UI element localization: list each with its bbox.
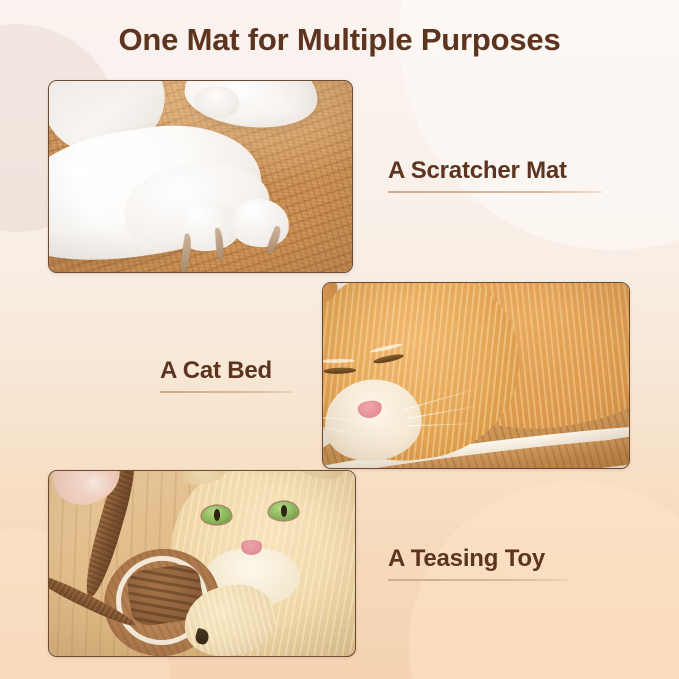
cat-pupil: [281, 505, 287, 517]
cat-ear: [293, 471, 351, 483]
cat-brow: [323, 359, 355, 363]
feature-label-text: A Scratcher Mat: [388, 158, 602, 184]
cat-eye: [202, 506, 231, 524]
feature-label-text: A Teasing Toy: [388, 546, 568, 572]
cat-brow: [369, 343, 402, 354]
cat-ear: [323, 283, 342, 316]
infographic-poster: One Mat for Multiple Purposes A Scratche…: [0, 0, 679, 679]
feature-label-teasing-toy: A Teasing Toy: [388, 546, 568, 581]
cat-closed-eye: [372, 353, 403, 365]
photo-cat-bed: [323, 283, 629, 468]
label-underline: [388, 579, 568, 581]
feature-label-text: A Cat Bed: [160, 358, 293, 384]
photo-teasing-toy: [49, 471, 355, 656]
cat-claw-icon: [193, 627, 210, 645]
cat-eye: [269, 502, 298, 520]
feature-label-cat-bed: A Cat Bed: [160, 358, 293, 393]
label-underline: [160, 391, 293, 393]
cat-closed-eye: [323, 368, 356, 375]
photo-panel-teasing-toy: [48, 470, 356, 657]
photo-scratcher-mat: [49, 81, 352, 272]
label-underline: [388, 191, 602, 193]
cat-pupil: [214, 509, 220, 521]
photo-panel-cat-bed: [322, 282, 630, 469]
page-title: One Mat for Multiple Purposes: [0, 22, 679, 58]
photo-panel-scratcher-mat: [48, 80, 353, 273]
feature-label-scratcher-mat: A Scratcher Mat: [388, 158, 602, 193]
